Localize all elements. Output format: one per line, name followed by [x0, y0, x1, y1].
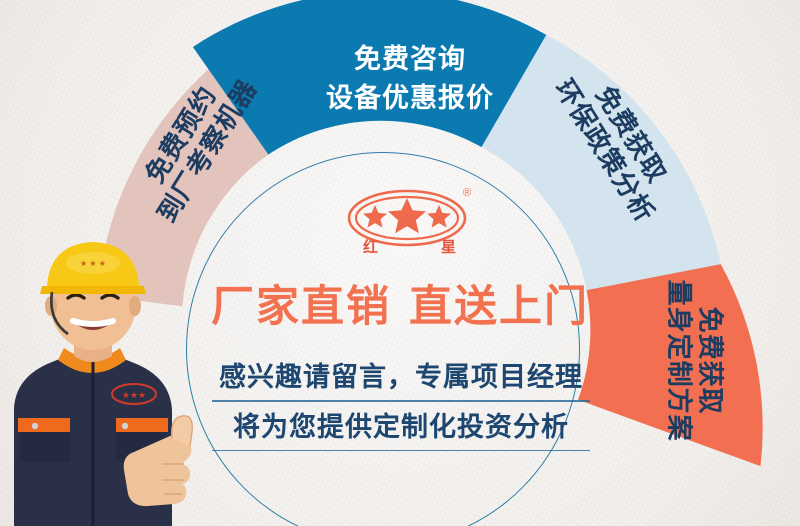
- subline-1: 感兴趣请留言，专属项目经理: [212, 352, 590, 400]
- subline-group: 感兴趣请留言，专属项目经理 将为您提供定制化投资分析: [212, 352, 590, 451]
- logo-char-left: 红: [363, 236, 379, 257]
- segment-4-orange[interactable]: [578, 264, 763, 466]
- trademark-mark: ®: [463, 187, 471, 199]
- headline-part-1: 厂家直销: [211, 283, 391, 331]
- subline-2: 将为您提供定制化投资分析: [212, 402, 590, 450]
- logo-wordmark: 红 星: [345, 236, 475, 257]
- promo-banner: 免费预约 到厂考察机器 免费咨询 设备优惠报价 免费获取 环保政策分析 免费获取…: [0, 0, 800, 526]
- uniform-logo-text: ★★★: [122, 390, 146, 400]
- logo-char-right: 星: [441, 236, 457, 257]
- divider-1: [212, 400, 590, 402]
- helmet-logo-text: ★ ★ ★: [80, 259, 106, 268]
- smiling-worker-thumbs-up: ★ ★ ★ ★★★: [0, 236, 224, 526]
- headline: 厂家直销直送上门: [200, 272, 600, 334]
- divider-2: [212, 450, 590, 452]
- headline-part-2: 直送上门: [409, 283, 589, 331]
